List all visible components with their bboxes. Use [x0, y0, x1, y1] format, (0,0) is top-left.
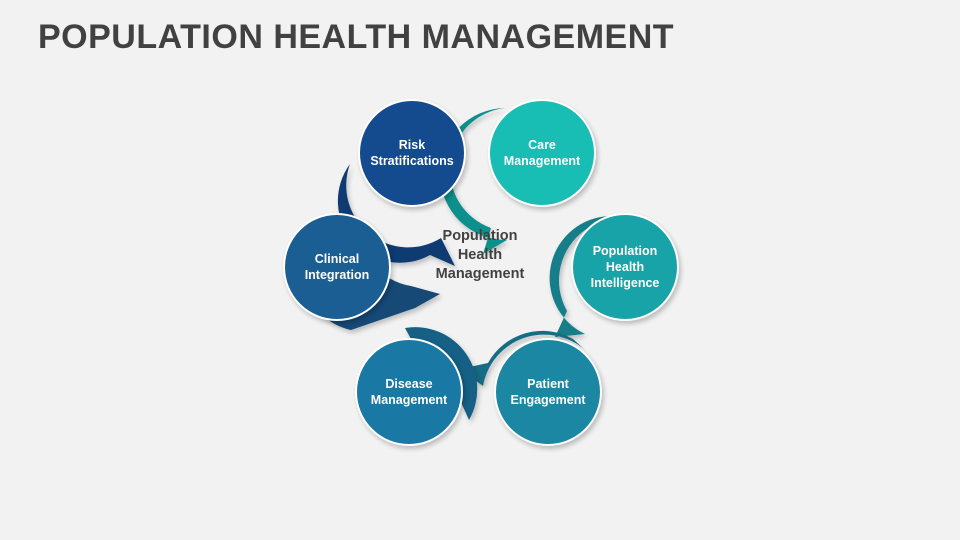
slide-canvas: POPULATION HEALTH MANAGEMENT — [0, 0, 960, 540]
population-health-management-diagram: Risk Stratifications Care Management Pop… — [255, 80, 705, 470]
node-phi-line3: Intelligence — [591, 276, 660, 290]
node-clinical-line2: Integration — [305, 268, 370, 282]
diagram-center-label: Population Health Management — [410, 227, 550, 284]
node-patient-line2: Engagement — [510, 393, 585, 407]
node-risk-stratifications[interactable]: Risk Stratifications — [358, 99, 466, 207]
node-care-management-label: Care Management — [498, 137, 586, 169]
node-clinical-integration-label: Clinical Integration — [299, 251, 376, 283]
node-disease-management[interactable]: Disease Management — [355, 338, 463, 446]
node-risk-line2: Stratifications — [370, 154, 453, 168]
node-phi-line1: Population — [593, 244, 658, 258]
node-care-line2: Management — [504, 154, 580, 168]
node-disease-management-label: Disease Management — [365, 376, 453, 408]
center-line2: Health — [410, 246, 550, 265]
node-care-line1: Care — [528, 138, 556, 152]
node-disease-line1: Disease — [385, 377, 432, 391]
node-patient-line1: Patient — [527, 377, 569, 391]
center-line3: Management — [410, 265, 550, 284]
center-line1: Population — [410, 227, 550, 246]
node-population-health-intelligence-label: Population Health Intelligence — [585, 243, 666, 291]
node-clinical-integration[interactable]: Clinical Integration — [283, 213, 391, 321]
node-patient-engagement[interactable]: Patient Engagement — [494, 338, 602, 446]
node-patient-engagement-label: Patient Engagement — [504, 376, 591, 408]
node-population-health-intelligence[interactable]: Population Health Intelligence — [571, 213, 679, 321]
page-title: POPULATION HEALTH MANAGEMENT — [38, 18, 674, 57]
node-risk-stratifications-label: Risk Stratifications — [364, 137, 459, 169]
node-clinical-line1: Clinical — [315, 252, 359, 266]
node-disease-line2: Management — [371, 393, 447, 407]
node-phi-line2: Health — [606, 260, 644, 274]
node-risk-line1: Risk — [399, 138, 425, 152]
node-care-management[interactable]: Care Management — [488, 99, 596, 207]
